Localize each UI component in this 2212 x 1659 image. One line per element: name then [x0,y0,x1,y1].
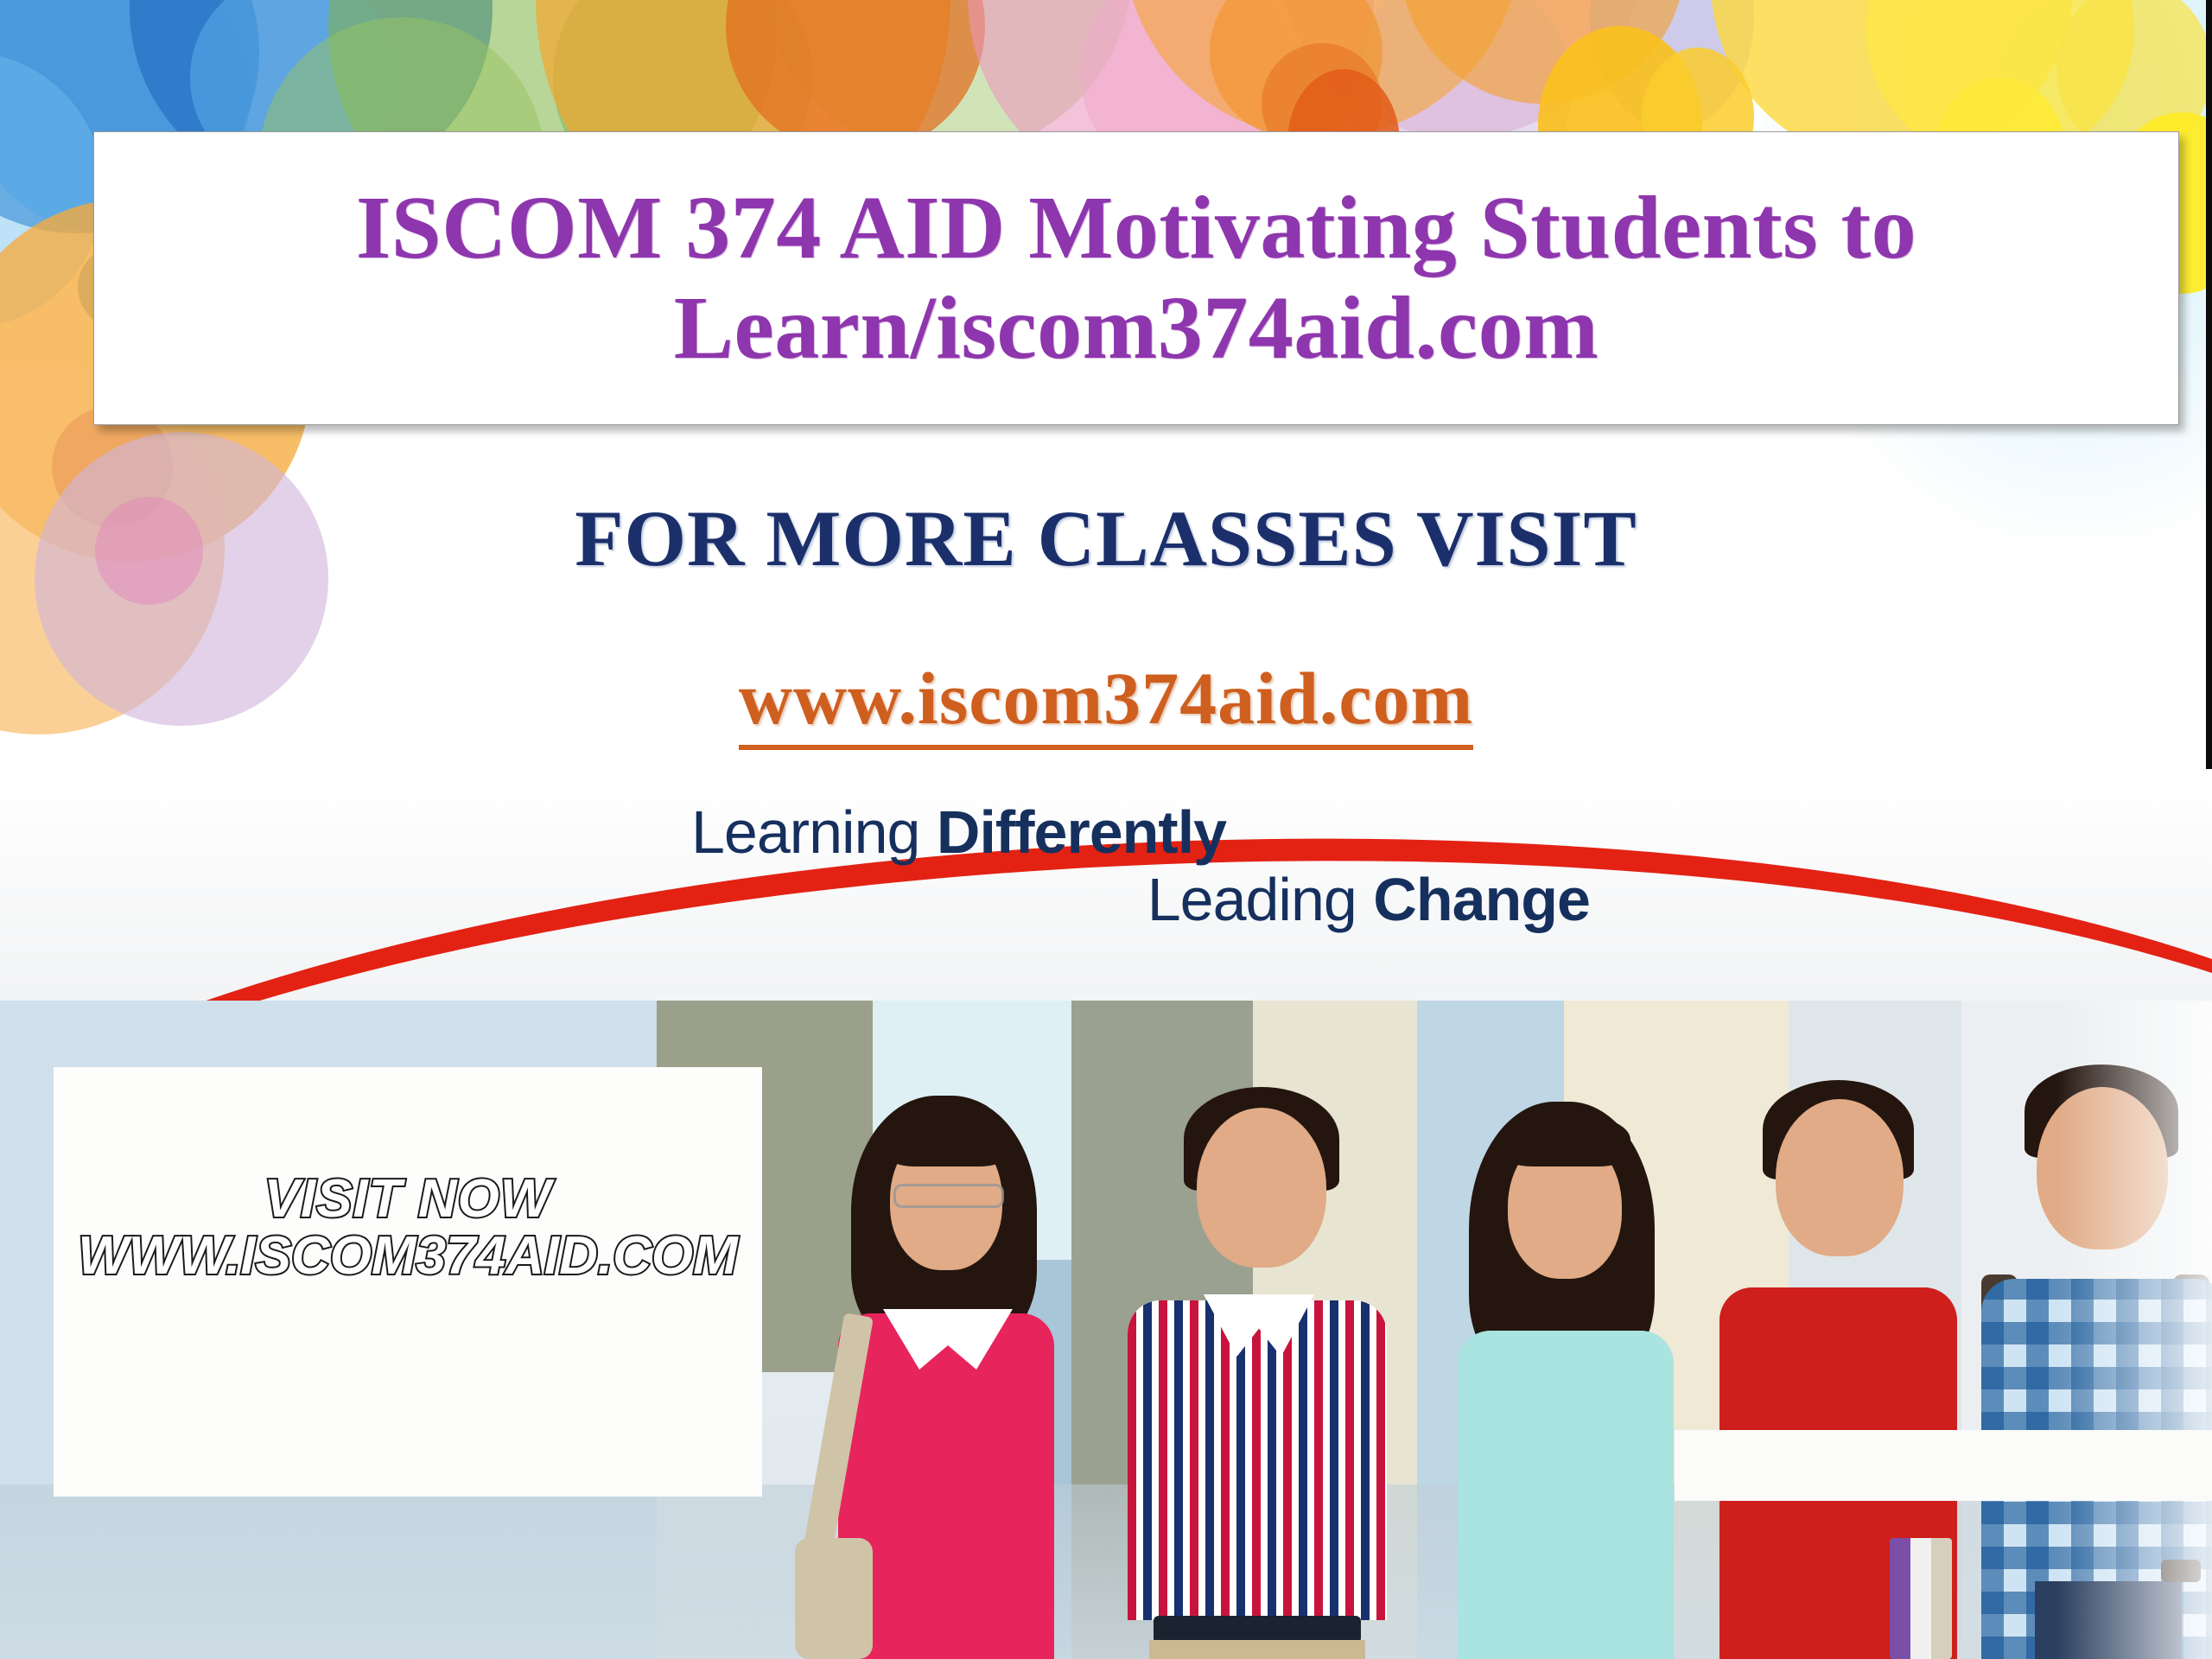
tagline-line-2: Leading Change [691,869,1642,930]
visit-now-text: VISIT NOW WWW.ISCOM374AID.COM [54,1171,762,1284]
tagline: Learning Differently Leading Change [691,802,1642,930]
tagline-differently: Differently [937,798,1226,866]
student-figure [804,1054,1089,1659]
presentation-slide: ISCOM 374 AID Motivating Students to Lea… [0,0,2212,1659]
call-to-action-block: FOR MORE CLASSES VISIT www.iscom374aid.c… [0,467,2212,778]
visit-now-overlay-box: VISIT NOW WWW.ISCOM374AID.COM [54,1067,762,1497]
title-panel: ISCOM 374 AID Motivating Students to Lea… [93,131,2179,425]
torso [1458,1331,1674,1659]
student-figure [1421,1054,1707,1659]
face [1197,1108,1326,1268]
eyeglasses [893,1184,1004,1208]
bangs [1501,1113,1630,1166]
student-figure [1102,1054,1413,1659]
bag [795,1538,873,1659]
books [1890,1538,1952,1659]
headline-text: FOR MORE CLASSES VISIT [0,493,2212,584]
face [1776,1099,1904,1256]
bangs [883,1108,1011,1166]
visit-now-line-1: VISIT NOW [264,1169,552,1229]
tagline-leading: Leading [1147,866,1357,933]
trousers [1149,1640,1365,1659]
wall-highlight [2056,1001,2212,1659]
website-url[interactable]: www.iscom374aid.com [0,655,2212,741]
torso [1128,1300,1387,1620]
tagline-line-1: Learning Differently [691,802,1642,862]
visit-now-line-2: WWW.ISCOM374AID.COM [54,1228,762,1285]
tagline-learning: Learning [691,798,919,866]
shirt-stripes [1128,1300,1387,1620]
website-url-label: www.iscom374aid.com [739,657,1473,750]
right-edge-rule [2206,0,2212,769]
blank-overlay-box [1675,1430,2212,1501]
page-title: ISCOM 374 AID Motivating Students to Lea… [94,178,2178,379]
student-figure [1689,1054,1974,1659]
tagline-change: Change [1373,866,1590,933]
